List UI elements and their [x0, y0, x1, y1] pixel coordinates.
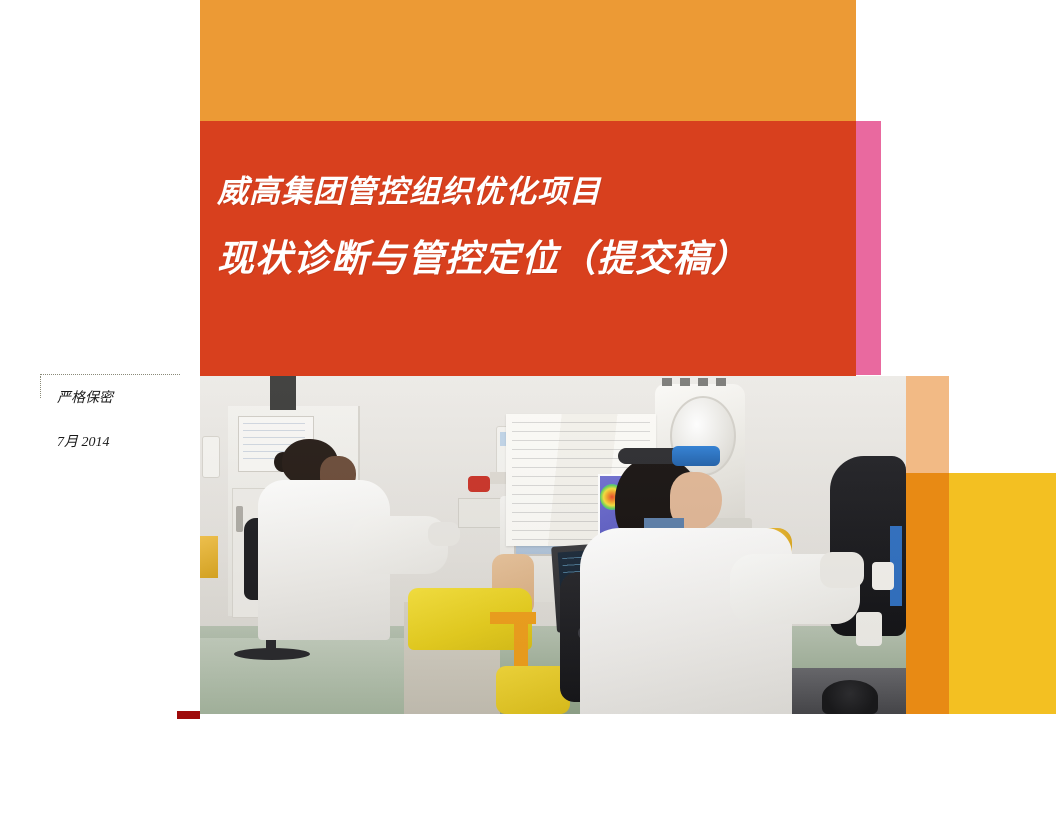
photo-floor-left	[200, 638, 430, 714]
photo-cart-arm	[490, 612, 536, 624]
photo-wall-dispenser	[202, 436, 220, 478]
photo-red-container	[468, 476, 490, 492]
photo-amber-bottle-edge	[200, 536, 218, 578]
photo-printer-drum	[822, 680, 878, 714]
peach-accent-block	[906, 376, 949, 473]
laboratory-photo	[200, 376, 906, 714]
yellow-accent-block	[949, 473, 1056, 714]
photo-chair-left-base	[234, 648, 310, 660]
title-slide: 威高集团管控组织优化项目 现状诊断与管控定位（提交稿） 严格保密 7月 2014	[0, 0, 1056, 816]
confidentiality-label: 严格保密	[57, 387, 190, 407]
title-line-primary: 威高集团管控组织优化项目	[217, 170, 857, 214]
photo-bottle-lower	[856, 612, 882, 646]
dark-red-marker	[177, 711, 200, 719]
orange-accent-block	[906, 473, 949, 714]
dotted-tick	[40, 376, 41, 398]
photo-yellow-bag-lower	[496, 666, 570, 714]
photo-wall-dark-strip	[270, 376, 296, 410]
photo-centrifuge-buttons	[662, 378, 734, 386]
photo-bottle-upper	[872, 562, 894, 590]
date-label: 7月 2014	[57, 431, 190, 451]
orange-banner-block	[200, 0, 856, 121]
photo-cabinet-handle	[236, 506, 243, 532]
slide-title-group: 威高集团管控组织优化项目 现状诊断与管控定位（提交稿）	[217, 170, 857, 286]
dotted-rule	[40, 374, 180, 375]
photo-technician-right-face-shield	[672, 446, 720, 466]
confidentiality-group: 严格保密 7月 2014	[40, 374, 190, 451]
pink-accent-bar	[856, 121, 881, 375]
title-line-secondary: 现状诊断与管控定位（提交稿）	[217, 234, 857, 286]
photo-technician-left-glove	[428, 522, 460, 546]
photo-technician-right-glove	[820, 552, 864, 588]
